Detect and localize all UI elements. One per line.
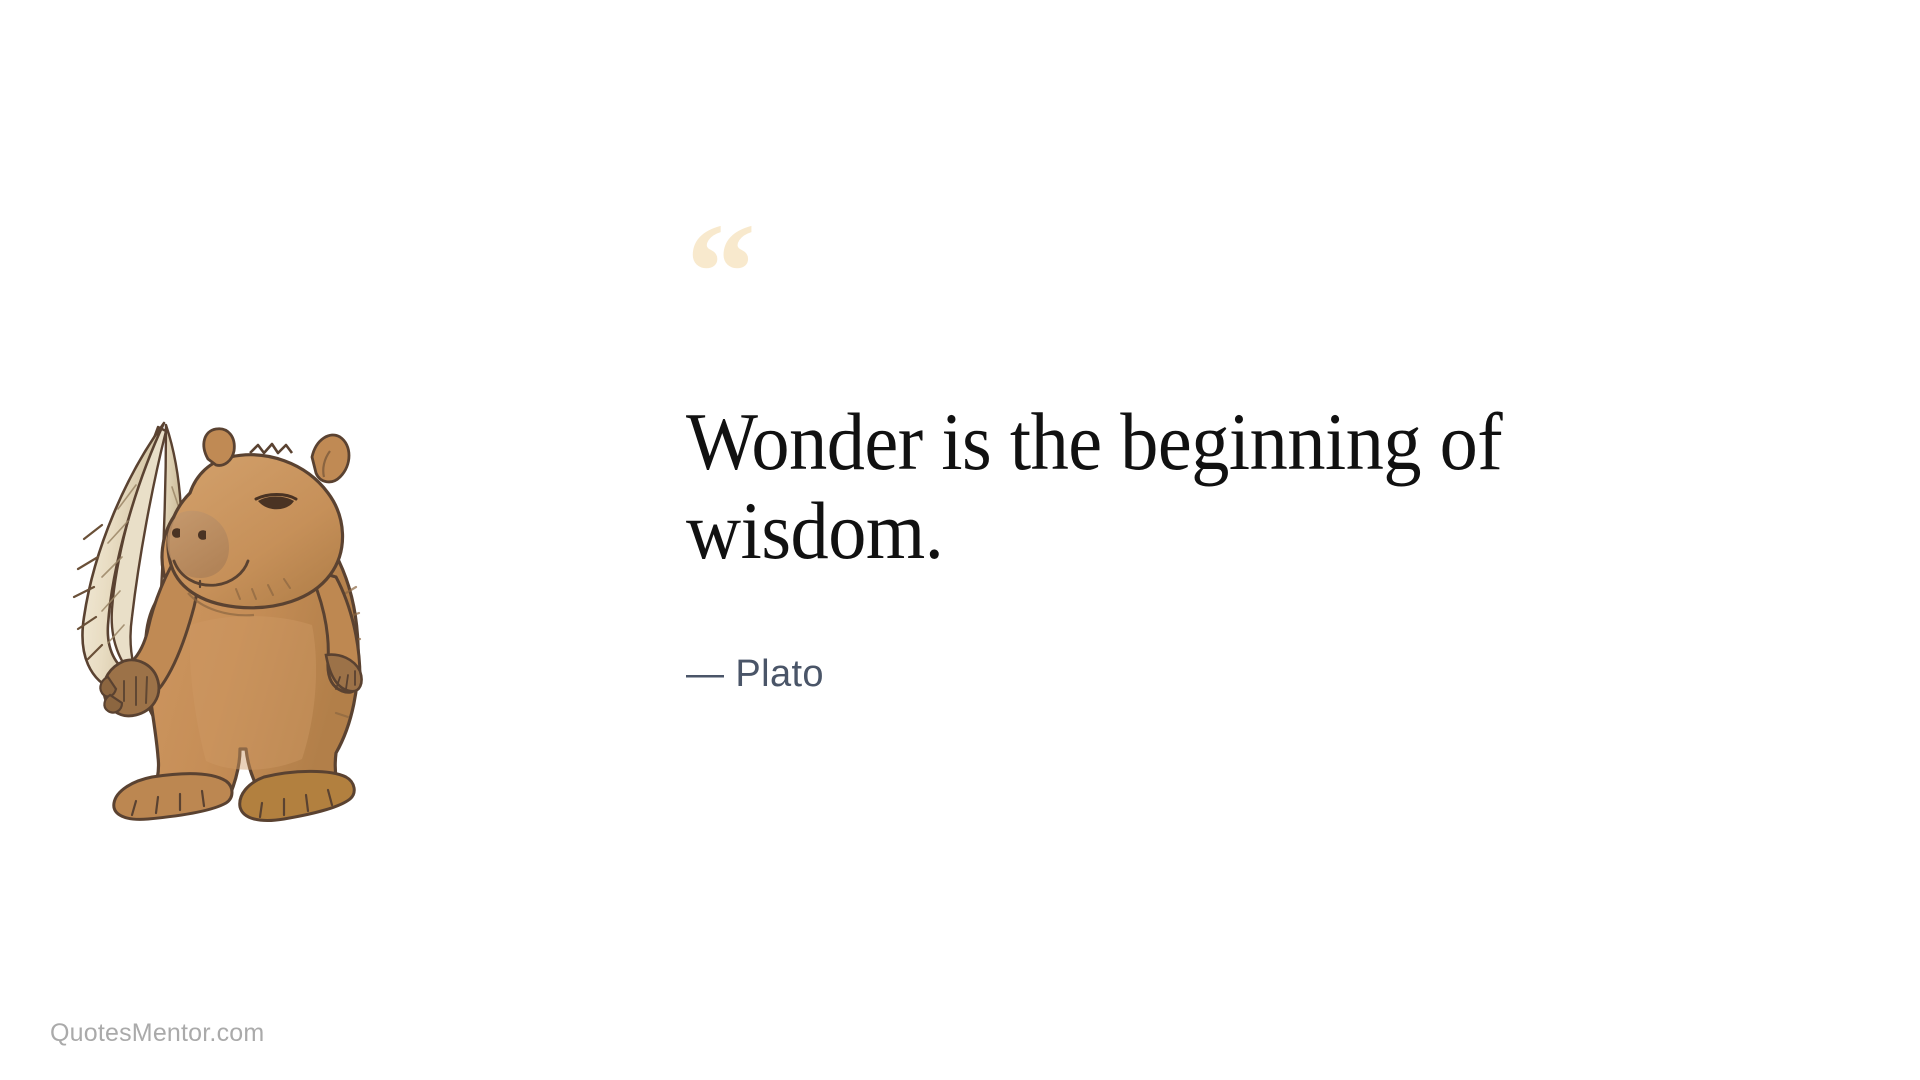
quote-block: “ Wonder is the beginning of wisdom. — P… xyxy=(686,230,1666,696)
capybara-right-ear xyxy=(312,435,349,482)
capybara-figure xyxy=(74,423,362,821)
capybara-left-ear xyxy=(204,429,234,466)
capybara-illustration xyxy=(40,325,440,825)
capybara-quill-icon xyxy=(40,325,440,825)
watermark-label: QuotesMentor.com xyxy=(50,1019,264,1048)
quote-attribution: — Plato xyxy=(686,653,1666,696)
capybara-left-foot xyxy=(114,774,232,820)
quote-text: Wonder is the beginning of wisdom. xyxy=(686,398,1681,575)
quote-card: “ Wonder is the beginning of wisdom. — P… xyxy=(0,0,1920,1080)
attribution-text: — Plato xyxy=(686,653,824,696)
open-quote-mark-icon: “ xyxy=(686,230,1666,300)
capybara-right-foot xyxy=(240,771,354,820)
